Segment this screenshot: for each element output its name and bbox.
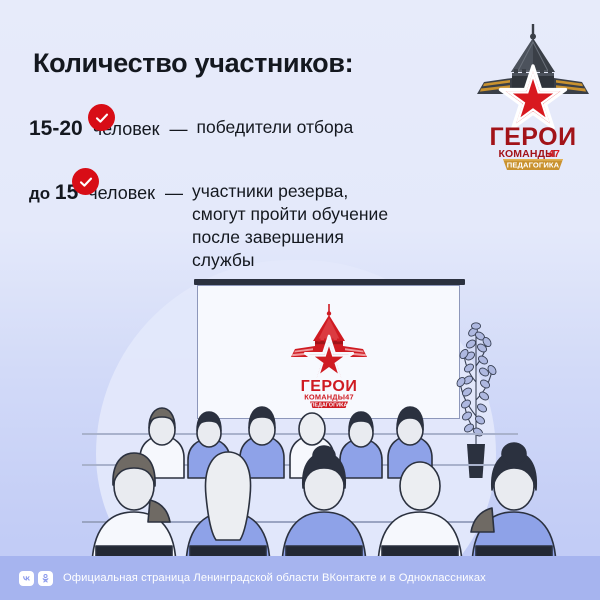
logo-subtitle: КОМАНДЫ	[499, 148, 556, 160]
vk-icon[interactable]	[19, 571, 34, 586]
auditorium-illustration: ГЕРОИ КОМАНДЫ47 ПЕДАГОГИКА	[0, 268, 600, 568]
fact-2-description-line-4: службы	[192, 249, 388, 272]
fact-1-amount: 15-20	[29, 117, 83, 140]
fact-2-description-line-3: после завершения	[192, 226, 388, 249]
fact-2-amount-prefix: до	[29, 184, 55, 203]
audience-group	[0, 268, 600, 568]
poster-root: ГЕРОИ КОМАНДЫ47 ПЕДАГОГИКА	[0, 0, 600, 600]
fact-2-dash: —	[165, 180, 183, 206]
page-title: Количество участников:	[33, 48, 353, 79]
fact-2-description: участники резерва, смогут пройти обучени…	[192, 180, 388, 272]
fact-row-2: до 15 человек — участники резерва, смогу…	[29, 180, 388, 272]
fact-1-amount-group: 15-20	[29, 116, 83, 142]
footer-text: Официальная страница Ленинградской облас…	[63, 572, 486, 584]
logo-banner-label: ПЕДАГОГИКА	[507, 160, 560, 169]
footer-bar: Официальная страница Ленинградской облас…	[0, 556, 600, 600]
check-circle-icon	[88, 104, 115, 131]
logo-region-number: 47	[548, 148, 560, 160]
fact-2-description-line-2: смогут пройти обучение	[192, 203, 388, 226]
fact-1-description: победители отбора	[196, 116, 353, 139]
check-circle-icon	[72, 168, 99, 195]
brand-logo: ГЕРОИ КОМАНДЫ 47 ПЕДАГОГИКА	[474, 24, 592, 170]
fact-1-dash: —	[169, 116, 187, 142]
fact-2-amount-group: до 15	[29, 180, 78, 207]
fact-2-description-line-1: участники резерва,	[192, 180, 388, 203]
fact-1-description-line-1: победители отбора	[196, 116, 353, 139]
logo-title: ГЕРОИ	[489, 123, 576, 151]
odnoklassniki-icon[interactable]	[38, 571, 53, 586]
fact-row-1: 15-20 человек — победители отбора	[29, 116, 353, 142]
